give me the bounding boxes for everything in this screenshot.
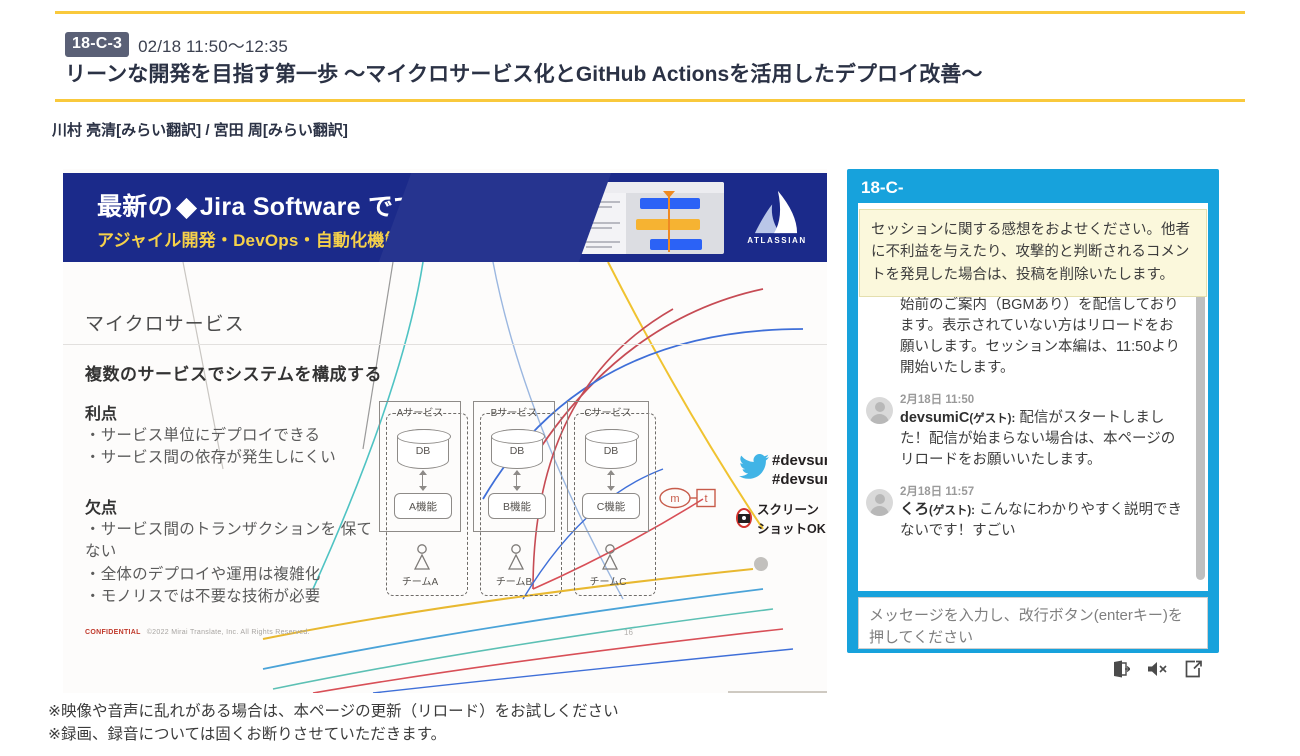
session-code-badge: 18-C-3 <box>65 32 129 56</box>
message-timestamp: 2月18日 11:57 <box>900 485 1186 500</box>
chat-message: 2月18日 11:50 devsumiC(ゲスト): 配信がスタートしました！配… <box>858 387 1208 479</box>
message-author: devsumiC <box>900 410 969 426</box>
banner-subline: アジャイル開発・DevOps・自動化機能・ロードマップ機能 <box>97 226 557 251</box>
confidential-text: ©2022 Mirai Translate, Inc. All Rights R… <box>147 629 310 636</box>
banner-headline: 最新のJira Software でできること公開中 <box>97 187 586 223</box>
twitter-bird-icon <box>739 454 769 480</box>
screenshot-ok-label: スクリーンショットOK <box>757 499 827 537</box>
slide-banner: 最新のJira Software でできること公開中 アジャイル開発・DevOp… <box>63 173 827 262</box>
team-person-icon <box>412 544 432 570</box>
title-divider-rule <box>55 99 1245 102</box>
confidential-tag: CONFIDENTIAL <box>85 629 141 636</box>
screenshot-ok-note: スクリーンショットOK <box>736 499 827 537</box>
banner-badge: 公開中 <box>528 195 586 218</box>
cons-list: ・サービス間のトランザクションを 保てない ・全体のデプロイや運用は複雑化 ・モ… <box>85 519 385 609</box>
exit-icon[interactable] <box>1113 660 1130 678</box>
presentation-slide: 最新のJira Software でできること公開中 アジャイル開発・DevOp… <box>63 169 827 693</box>
mirai-translate-mark-icon: m t <box>659 486 721 510</box>
message-timestamp: 2月18日 11:50 <box>900 393 1186 408</box>
banner-screenshot-mock <box>570 182 724 254</box>
service-a-function: A機能 <box>394 493 452 519</box>
service-a-label: Aサービス <box>379 404 461 419</box>
service-c-function: C機能 <box>582 493 640 519</box>
player-notes: ※映像や音声に乱れがある場合は、本ページの更新（リロード）をお試しください ※録… <box>48 700 619 747</box>
message-body: devsumiC(ゲスト): 配信がスタートしました！配信が始まらない場合は、本… <box>900 408 1186 471</box>
service-c-label: Cサービス <box>567 404 649 419</box>
slide-page-number: 16 <box>624 628 633 637</box>
cons-title: 欠点 <box>85 494 117 518</box>
player-note-1: ※映像や音声に乱れがある場合は、本ページの更新（リロード）をお試しください <box>48 700 619 723</box>
service-b-db: DB <box>491 429 543 469</box>
banner-headline-pre: 最新の <box>97 193 173 221</box>
chat-tool-bar <box>1113 660 1202 678</box>
pros-title: 利点 <box>85 400 117 424</box>
banner-headline-post: Jira Software でできること <box>200 193 519 221</box>
service-b-function: B機能 <box>488 493 546 519</box>
session-time: 02/18 11:50～12:35 <box>138 32 288 57</box>
chat-room-title: 18-C- <box>861 178 904 198</box>
chat-message: 2月18日 11:57 くろ(ゲスト): こんなにわかりやすく説明できないです！… <box>858 479 1208 550</box>
service-a-team: チームA <box>379 573 461 588</box>
slide-subheading: 複数のサービスでシステムを構成する <box>85 360 382 385</box>
chat-scrollbar[interactable] <box>1196 258 1205 580</box>
svg-text:t: t <box>704 493 707 505</box>
service-b-label: Bサービス <box>473 404 555 419</box>
chat-notice-banner: セッションに関する感想をおよせください。他者に不利益を与えたり、攻撃的と判断され… <box>859 209 1207 297</box>
session-page: 18-C-3 02/18 11:50～12:35 リーンな開発を目指す第一歩 ～… <box>0 0 1300 756</box>
message-body: くろ(ゲスト): こんなにわかりやすく説明できないです！すごい <box>900 500 1186 542</box>
cons-item-0: ・サービス間のトランザクションを 保てない <box>85 519 385 564</box>
session-title: リーンな開発を目指す第一歩 ～マイクロサービス化とGitHub Actionsを… <box>65 58 1245 88</box>
session-speakers: 川村 亮清[みらい翻訳] / 宮田 周[みらい翻訳] <box>52 119 348 140</box>
presenter-video-inset <box>728 691 827 693</box>
service-c-db: DB <box>585 429 637 469</box>
popout-icon[interactable] <box>1185 660 1202 678</box>
chat-panel: 18-C- 2月18日 11:46 devsumiC(ゲスト): ただいま、セッ… <box>847 169 1219 653</box>
message-author-role: (ゲスト): <box>969 413 1015 425</box>
atlassian-logo-icon <box>753 189 799 235</box>
pros-item-0: ・サービス単位にデプロイできる <box>85 425 336 447</box>
camera-icon <box>736 508 752 528</box>
atlassian-wordmark: ATLASSIAN <box>743 236 811 245</box>
service-c-team: チームC <box>567 573 649 588</box>
chat-message-input[interactable]: メッセージを入力し、改行ボタン(enterキー)を押してください <box>858 597 1208 649</box>
top-divider-rule <box>55 11 1245 14</box>
slide-confidential: CONFIDENTIAL©2022 Mirai Translate, Inc. … <box>85 629 310 636</box>
jira-diamond-icon <box>176 198 197 219</box>
avatar <box>866 489 893 516</box>
event-hashtags: #devsumi#devsumiC <box>772 452 827 490</box>
service-a-db: DB <box>397 429 449 469</box>
message-author: くろ <box>900 502 929 518</box>
pros-list: ・サービス単位にデプロイできる ・サービス間の依存が発生しにくい <box>85 425 336 470</box>
player-note-2: ※録画、録音については固くお断りさせていただきます。 <box>48 723 619 746</box>
slide-heading-rule <box>63 344 827 345</box>
message-author-role: (ゲスト): <box>929 505 975 517</box>
svg-text:m: m <box>670 493 679 505</box>
pros-item-1: ・サービス間の依存が発生しにくい <box>85 447 336 469</box>
service-b-team: チームB <box>473 573 555 588</box>
video-player[interactable]: 最新のJira Software でできること公開中 アジャイル開発・DevOp… <box>63 169 827 693</box>
team-person-icon <box>506 544 526 570</box>
avatar <box>866 397 893 424</box>
session-meta: 18-C-3 02/18 11:50～12:35 <box>65 32 288 57</box>
mute-icon[interactable] <box>1147 661 1168 677</box>
cons-item-1: ・全体のデプロイや運用は複雑化 <box>85 564 385 586</box>
cons-item-2: ・モノリスでは不要な技術が必要 <box>85 586 385 608</box>
team-person-icon <box>600 544 620 570</box>
slide-heading: マイクロサービス <box>85 309 245 336</box>
